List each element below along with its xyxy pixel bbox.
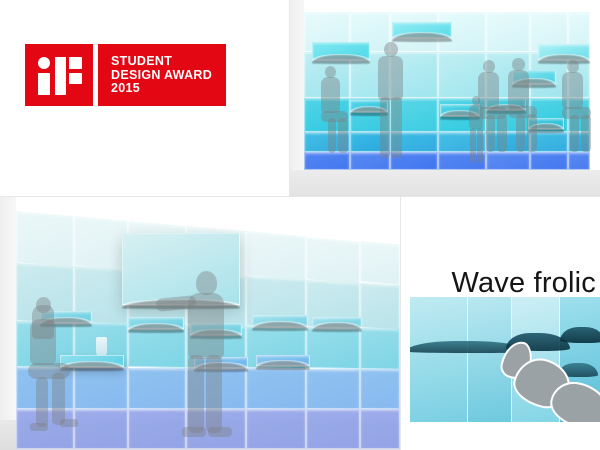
wall-tile xyxy=(568,152,590,170)
letter-i-stem-icon xyxy=(38,73,50,95)
wall-tile xyxy=(306,369,360,410)
elevation-side-wall xyxy=(290,0,304,196)
if-award-logo: STUDENT DESIGN AWARD 2015 xyxy=(25,44,226,106)
figure-woman-shin xyxy=(36,377,48,427)
pull-out-ledge xyxy=(312,317,362,328)
figure-shin xyxy=(497,115,507,152)
wall-tile xyxy=(74,409,128,449)
elevation-floor xyxy=(290,170,600,196)
wall-tile xyxy=(128,409,186,449)
figure-leg xyxy=(477,128,483,164)
award-line-design-award: DESIGN AWARD xyxy=(111,69,212,83)
wall-tile xyxy=(306,327,360,370)
figure-torso xyxy=(562,72,583,109)
wall-tile xyxy=(128,368,186,410)
figure-man-shoe xyxy=(208,427,232,437)
wall-tile xyxy=(360,409,400,449)
figure-woman-heel xyxy=(60,419,78,427)
figure-man-shoe xyxy=(182,427,206,437)
if-logo-mark xyxy=(25,44,93,106)
wave-wall-elevation-render xyxy=(290,0,600,196)
letter-f-stem-icon xyxy=(55,57,66,95)
figure-shin xyxy=(516,114,525,152)
figure-leg xyxy=(470,128,476,164)
wall-tile xyxy=(306,409,360,449)
fold-out-table xyxy=(60,355,124,367)
figure-torso xyxy=(478,72,499,109)
figure-torso xyxy=(321,77,341,112)
wall-tile xyxy=(360,283,400,331)
figure-leg xyxy=(380,97,390,158)
letter-f-top-arm-icon xyxy=(69,57,82,69)
wall-tile xyxy=(246,368,306,409)
award-line-year: 2015 xyxy=(111,82,212,96)
wall-tile xyxy=(74,216,128,271)
perspective-side-wall xyxy=(0,197,16,450)
wall-tile xyxy=(530,152,568,170)
pull-out-ledge xyxy=(128,317,184,329)
pull-out-ledge xyxy=(256,355,310,366)
figure-shin xyxy=(527,114,537,152)
wall-tile xyxy=(16,211,74,268)
wave-wall-perspective-render xyxy=(0,197,400,450)
figure-man-head xyxy=(196,271,217,295)
figure-shin xyxy=(486,115,495,152)
figure-leg xyxy=(391,97,401,158)
wall-tile xyxy=(306,237,360,285)
figure-man-leg xyxy=(188,355,204,433)
wall-tile xyxy=(486,12,530,52)
wall-tile xyxy=(246,231,306,281)
pull-out-ledge xyxy=(252,315,308,327)
wall-tile xyxy=(486,152,530,170)
figure-torso xyxy=(508,70,529,108)
figure-man-leg xyxy=(206,355,222,433)
pull-out-panel xyxy=(312,42,370,60)
figure-woman-torso xyxy=(30,319,56,365)
wall-tile xyxy=(304,152,350,170)
detail-seam xyxy=(467,297,468,422)
figure-shin xyxy=(581,115,591,152)
project-title-block: Wave frolic xyxy=(401,197,600,302)
wall-tile xyxy=(246,409,306,449)
wall-tile xyxy=(360,369,400,409)
figure-woman-shin xyxy=(52,373,65,425)
wall-tile xyxy=(360,241,400,286)
cup xyxy=(96,337,107,356)
figure-shin xyxy=(570,115,579,152)
portfolio-board: STUDENT DESIGN AWARD 2015 Wave frolic xyxy=(0,0,600,450)
pull-out-panel xyxy=(392,22,452,38)
page-title: Wave frolic xyxy=(451,268,596,298)
wall-tile xyxy=(74,367,128,409)
figure-shin xyxy=(328,118,336,153)
letter-f-mid-arm-icon xyxy=(69,73,82,84)
detail-wave-shadow xyxy=(560,327,600,343)
pull-out-panel-large xyxy=(122,233,240,305)
letter-i-dot-icon xyxy=(38,57,50,69)
pull-out-panel xyxy=(538,44,590,60)
figure-torso xyxy=(378,56,402,100)
if-logo-text-block: STUDENT DESIGN AWARD 2015 xyxy=(98,44,226,106)
figure-woman-heel xyxy=(30,423,48,431)
figure-shin xyxy=(338,118,347,153)
detail-tile xyxy=(410,297,468,422)
wave-wall-hand-detail-photo xyxy=(410,297,600,422)
wall-tile xyxy=(360,328,400,369)
figure-head xyxy=(384,42,398,57)
award-line-student: STUDENT xyxy=(111,55,212,69)
